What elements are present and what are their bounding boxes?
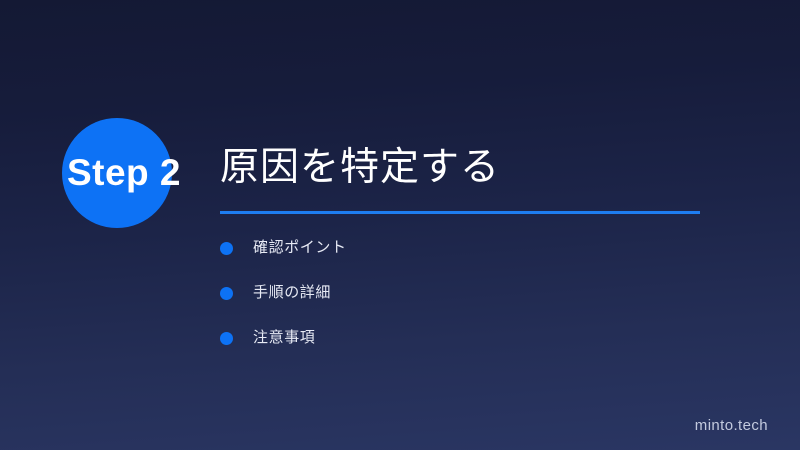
title-divider-rule bbox=[220, 211, 700, 214]
list-item-label: 確認ポイント bbox=[253, 234, 347, 262]
list-item-label: 手順の詳細 bbox=[253, 279, 331, 307]
footer-brand-text: minto.tech bbox=[695, 417, 768, 434]
bullet-dot-icon bbox=[220, 242, 233, 255]
presentation-slide: Step 2 原因を特定する 確認ポイント 手順の詳細 注意事項 minto.t… bbox=[0, 0, 800, 450]
list-item: 確認ポイント bbox=[220, 234, 700, 279]
title-block: 原因を特定する bbox=[220, 143, 760, 193]
list-item: 手順の詳細 bbox=[220, 279, 700, 324]
step-number-label: Step 2 bbox=[44, 150, 204, 196]
bullet-list: 確認ポイント 手順の詳細 注意事項 bbox=[220, 234, 700, 369]
bullet-dot-icon bbox=[220, 332, 233, 345]
list-item-label: 注意事項 bbox=[253, 324, 315, 352]
list-item: 注意事項 bbox=[220, 324, 700, 369]
bullet-dot-icon bbox=[220, 287, 233, 300]
page-title: 原因を特定する bbox=[220, 143, 760, 193]
